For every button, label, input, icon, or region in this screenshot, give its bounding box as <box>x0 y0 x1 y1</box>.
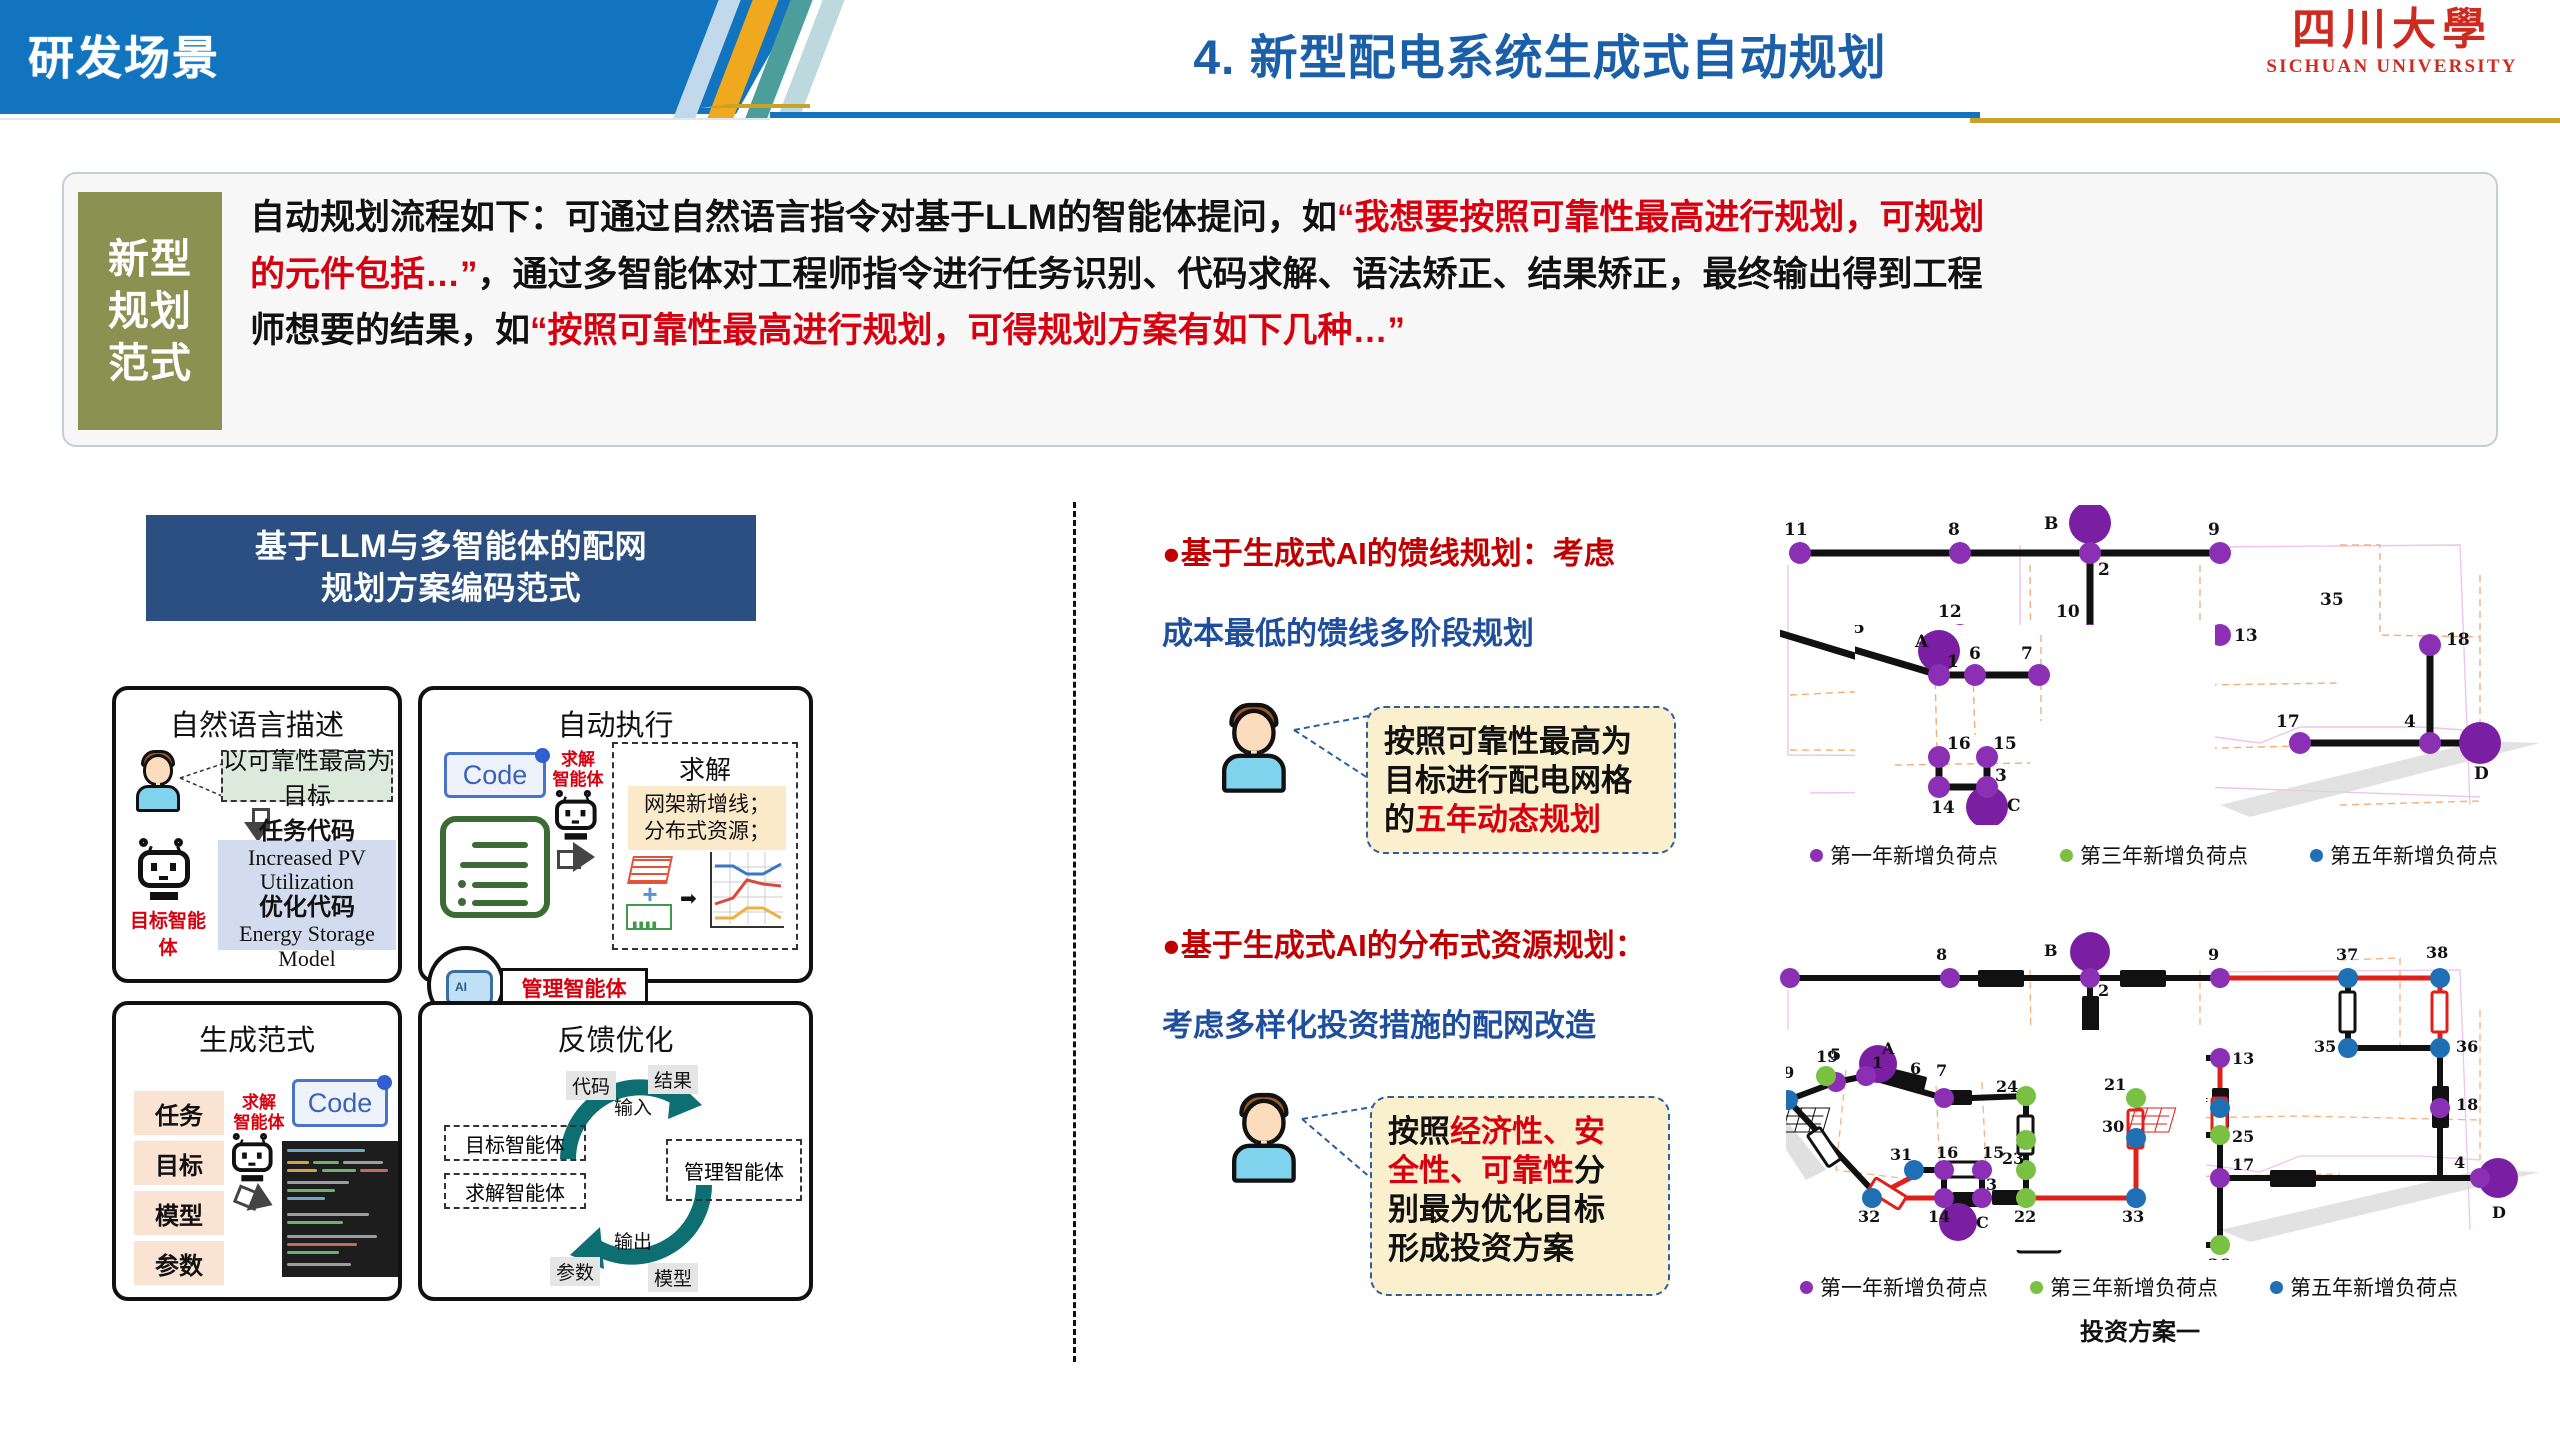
ae-mini-chart <box>710 852 784 928</box>
node-label: 36 <box>2456 1037 2478 1056</box>
callout-body: 自动规划流程如下：可通过自然语言指令对基于LLM的智能体提问，如“我想要按照可靠… <box>250 190 2470 360</box>
section-divider <box>1073 502 1076 1362</box>
node-label: 9 <box>2208 945 2219 964</box>
node-label: 15 <box>1993 734 2017 754</box>
gen-row-task: 任务 <box>134 1091 224 1135</box>
investment-plan-label: 投资方案一 <box>2020 1312 2260 1347</box>
node-label: 9 <box>2208 520 2220 540</box>
nl-task-code-body: Increased PV Utilization <box>218 846 396 895</box>
section2-speech-line-2-red: 全性、可靠性 <box>1388 1153 1574 1188</box>
fb-label-result: 结果 <box>648 1065 698 1094</box>
node-label: 11 <box>1784 520 1808 540</box>
node-label: 23 <box>2002 1149 2024 1168</box>
section1-speech-line-3-red: 五年动态规划 <box>1415 802 1601 837</box>
network-bottom-year-legend-3: 第五年新增负荷点 <box>2270 1272 2458 1302</box>
node-label: 13 <box>2234 626 2258 646</box>
callout-line-2: 的元件包括…”，通过多智能体对工程师指令进行任务识别、代码求解、语法矫正、结果矫… <box>250 247 2470 304</box>
gen-code-label: Code <box>308 1088 373 1119</box>
ae-solve-items: 网架新增线； 分布式资源； <box>628 786 786 850</box>
page-title: 4. 新型配电系统生成式自动规划 <box>880 18 2200 88</box>
callout-line-3-red: “按照可靠性最高进行规划，可得规划方案有如下几种…” <box>530 311 1405 350</box>
callout-line-2-red: 的元件包括…” <box>250 255 478 294</box>
gen-row-param: 参数 <box>134 1241 224 1285</box>
plus-icon: + <box>640 884 660 904</box>
node-label: B <box>2044 514 2058 534</box>
engineer-icon <box>136 748 182 814</box>
fb-box-manager-agent: 管理智能体 <box>666 1139 802 1201</box>
network-top-year-legend-1: 第一年新增负荷点 <box>1810 840 1998 870</box>
quadrant-gen-title: 生成范式 <box>116 1017 398 1059</box>
callout-line-1: 自动规划流程如下：可通过自然语言指令对基于LLM的智能体提问，如“我想要按照可靠… <box>250 190 2470 247</box>
node-label: 5 <box>1855 625 1865 638</box>
gen-solver-agent-label-2: 智能体 <box>228 1113 290 1133</box>
header-thin-rule <box>0 118 770 120</box>
fb-label-code: 代码 <box>566 1071 616 1100</box>
ae-right-arrow-icon <box>557 842 595 872</box>
node-label: C <box>1976 1213 1989 1232</box>
logo-english-name: SICHUAN UNIVERSITY <box>2242 56 2542 78</box>
node-label: 15 <box>1982 1143 2004 1162</box>
speech-connector <box>178 762 224 802</box>
node-label: 8 <box>1936 945 1947 964</box>
section2-subtitle: 考虑多样化投资措施的配网改造 <box>1162 1000 1596 1045</box>
slide-header: 研发场景 4. 新型配电系统生成式自动规划 四川大學 SICHUAN UNIVE… <box>0 0 2560 124</box>
node-label: 14 <box>1928 1207 1950 1226</box>
node-label: D <box>2492 1203 2506 1222</box>
node-label: 35 <box>2314 1037 2336 1056</box>
gen-terminal <box>282 1141 398 1277</box>
section2-speech-line-1-normal: 按照 <box>1388 1114 1450 1149</box>
node-label: 2 <box>2098 560 2110 580</box>
node-label: 8 <box>1948 520 1960 540</box>
ae-solver-robot-icon <box>555 790 595 836</box>
section1-bullet-heading: ●基于生成式AI的馈线规划：考虑 <box>1162 528 1615 573</box>
section2-speech-line-3: 别最为优化目标 <box>1388 1190 1652 1229</box>
ae-list-card <box>440 816 550 918</box>
node-label: 7 <box>2021 644 2033 664</box>
ae-solve-item-2: 分布式资源； <box>644 818 770 845</box>
node-label: 13 <box>2232 1049 2254 1068</box>
network-diagram-bottom-left-cluster: 29 19 5 A 1 6 7 24 23 21 30 31 16 15 3 3… <box>1786 1030 2206 1250</box>
node-label: 16 <box>1936 1143 1958 1162</box>
ae-solve-item-1: 网架新增线； <box>644 791 770 818</box>
nl-code-box: 任务代码 Increased PV Utilization 优化代码 Energ… <box>218 840 396 950</box>
header-tab-label: 研发场景 <box>28 22 220 88</box>
node-label: 12 <box>1938 602 1962 622</box>
university-logo: 四川大學 SICHUAN UNIVERSITY <box>2242 6 2542 78</box>
fb-label-input: 输入 <box>614 1093 652 1120</box>
callout-line-3: 师想要的结果，如“按照可靠性最高进行规划，可得规划方案有如下几种…” <box>250 303 2470 360</box>
quadrant-auto-execution: 自动执行 Code 求解 智能体 求解 网架新增线； 分布式资源； <box>418 686 813 983</box>
ae-code-label: Code <box>463 760 528 791</box>
quadrant-fb-title: 反馈优化 <box>422 1017 809 1059</box>
left-panel-title-line-1: 基于LLM与多智能体的配网 <box>255 526 647 568</box>
section2-speech-line-1-red: 经济性、安 <box>1450 1114 1605 1149</box>
callout-tag-line-2: 规划 <box>108 286 192 336</box>
fb-label-model: 模型 <box>648 1263 698 1292</box>
node-label: 1 <box>1947 652 1959 672</box>
section1-speech-connector <box>1292 712 1372 784</box>
node-label: 4 <box>2454 1153 2465 1172</box>
ae-code-scroll: Code <box>444 752 546 798</box>
ae-solve-panel: 求解 网架新增线； 分布式资源； + ▮▮▮▮ ➡ <box>612 742 798 950</box>
node-label: 10 <box>2056 602 2080 622</box>
target-agent-label: 目标智能体 <box>126 906 210 960</box>
fb-label-param: 参数 <box>550 1257 600 1286</box>
node-label: 35 <box>2320 590 2344 610</box>
section1-speech-line-3: 的五年动态规划 <box>1384 800 1658 839</box>
section2-speech-line-1: 按照经济性、安 <box>1388 1112 1652 1151</box>
nl-goal-bubble: 以可靠性最高为目标 <box>221 750 393 802</box>
header-blue-rule <box>770 112 1980 118</box>
callout-line-1-red: “我想要按照可靠性最高进行规划，可规划 <box>1337 198 1985 237</box>
node-label: 2 <box>2098 981 2109 1000</box>
nl-task-code-title: 任务代码 <box>259 819 355 846</box>
header-stripe-decoration <box>660 0 870 118</box>
node-label: 4 <box>2404 712 2416 732</box>
callout-tag-line-3: 范式 <box>108 338 192 388</box>
node-label: 24 <box>1996 1077 2018 1096</box>
section2-speech-connector <box>1300 1105 1376 1185</box>
section2-bullet-heading: ●基于生成式AI的分布式资源规划： <box>1162 920 1646 965</box>
node-label: 5 <box>1830 1045 1841 1064</box>
node-label: 18 <box>2456 1095 2478 1114</box>
left-panel-title-line-2: 规划方案编码范式 <box>321 568 581 610</box>
network-top-year-legend-3: 第五年新增负荷点 <box>2310 840 2498 870</box>
ae-solver-agent-label-2: 智能体 <box>550 770 606 790</box>
left-panel-title: 基于LLM与多智能体的配网 规划方案编码范式 <box>146 515 756 621</box>
node-label: 6 <box>1910 1059 1921 1078</box>
node-label: 37 <box>2336 945 2358 964</box>
node-label: 21 <box>2104 1075 2126 1094</box>
node-label: 17 <box>2276 712 2300 732</box>
node-label: 26 <box>2208 1255 2230 1260</box>
quadrant-ae-title: 自动执行 <box>422 702 809 744</box>
logo-chinese-name: 四川大學 <box>2242 6 2542 54</box>
node-label: 7 <box>1936 1061 1947 1080</box>
slide-root: 研发场景 4. 新型配电系统生成式自动规划 四川大學 SICHUAN UNIVE… <box>0 0 2560 1440</box>
section1-speech-bubble: 按照可靠性最高为 目标进行配电网格 的五年动态规划 <box>1366 706 1676 854</box>
node-label: 3 <box>1995 766 2007 786</box>
node-label: 14 <box>1931 798 1955 818</box>
gen-row-model: 模型 <box>134 1191 224 1235</box>
callout-line-1-normal: 自动规划流程如下：可通过自然语言指令对基于LLM的智能体提问，如 <box>250 198 1337 237</box>
gen-row-goal: 目标 <box>134 1141 224 1185</box>
quadrant-feedback: 反馈优化 代码 结果 输入 输出 参数 模型 目标智能体 求解智能体 管理智能体 <box>418 1001 813 1301</box>
section1-speech-line-2: 目标进行配电网格 <box>1384 761 1658 800</box>
node-label: D <box>2474 764 2489 784</box>
section1-speech-line-3-normal: 的 <box>1384 802 1415 837</box>
quadrant-natural-language: 自然语言描述 以可靠性最高为目标 任务代码 Increased PV Utili… <box>112 686 402 983</box>
node-label: 25 <box>2232 1127 2254 1146</box>
gen-arrow-icon <box>232 1177 278 1219</box>
network-bottom-year-legend-2: 第三年新增负荷点 <box>2030 1272 2218 1302</box>
quadrant-generation: 生成范式 任务 目标 模型 参数 求解 智能体 Code <box>112 1001 402 1301</box>
fb-box-solver-agent: 求解智能体 <box>444 1173 586 1209</box>
fb-box-target-agent: 目标智能体 <box>444 1125 586 1161</box>
node-label: 30 <box>2102 1117 2124 1136</box>
node-label: 16 <box>1947 734 1971 754</box>
header-gold-rule <box>1970 118 2560 123</box>
section2-speech-line-2-normal: 分 <box>1574 1153 1605 1188</box>
section2-speech-line-2: 全性、可靠性分 <box>1388 1151 1652 1190</box>
ae-solve-title: 求解 <box>614 750 796 787</box>
target-agent-robot-icon <box>138 838 194 902</box>
network-bottom-year-legend-1: 第一年新增负荷点 <box>1800 1272 1988 1302</box>
node-label: A <box>1914 632 1929 652</box>
callout-line-2-normal: ，通过多智能体对工程师指令进行任务识别、代码求解、语法矫正、结果矫正，最终输出得… <box>478 255 1983 294</box>
gen-code-scroll: Code <box>292 1079 388 1127</box>
section1-speech-line-1: 按照可靠性最高为 <box>1384 722 1658 761</box>
node-label: 22 <box>2014 1207 2036 1226</box>
section2-speech-line-4: 形成投资方案 <box>1388 1229 1652 1268</box>
section2-speech-bubble: 按照经济性、安 全性、可靠性分 别最为优化目标 形成投资方案 <box>1370 1096 1670 1296</box>
node-label: 18 <box>2446 630 2470 650</box>
node-label: 6 <box>1969 644 1981 664</box>
fb-label-output: 输出 <box>614 1227 652 1254</box>
callout-tag-line-1: 新型 <box>108 234 192 284</box>
node-label: 17 <box>2232 1155 2254 1174</box>
node-label: 31 <box>1890 1145 1912 1164</box>
network-diagram-top-left-cluster: A 1 6 7 16 15 3 14 C 5 <box>1855 625 2215 825</box>
node-label: 29 <box>1786 1063 1794 1082</box>
node-label: B <box>2044 941 2058 960</box>
node-label: 32 <box>1858 1207 1880 1226</box>
node-label: 33 <box>2122 1207 2144 1226</box>
node-label: C <box>2007 796 2021 816</box>
gen-solver-robot-icon <box>232 1133 271 1177</box>
node-label: 1 <box>1872 1053 1883 1072</box>
network-top-year-legend-2: 第三年新增负荷点 <box>2060 840 2248 870</box>
callout-line-3-normal: 师想要的结果，如 <box>250 311 530 350</box>
arrow-glyph-icon: ➡ <box>680 886 697 911</box>
battery-icon: ▮▮▮▮ <box>626 904 672 930</box>
callout-box: 新型 规划 范式 自动规划流程如下：可通过自然语言指令对基于LLM的智能体提问，… <box>62 172 2498 447</box>
section1-subtitle: 成本最低的馈线多阶段规划 <box>1162 608 1534 653</box>
callout-tag: 新型 规划 范式 <box>78 192 222 430</box>
gen-solver-agent-label-1: 求解 <box>228 1093 290 1113</box>
ae-solver-agent-label-1: 求解 <box>550 750 606 770</box>
quadrant-nl-title: 自然语言描述 <box>116 702 398 744</box>
nl-opt-code-body: Energy Storage Model <box>218 922 396 971</box>
node-label: 38 <box>2426 943 2448 962</box>
node-label: 3 <box>1986 1175 1997 1194</box>
nl-opt-code-title: 优化代码 <box>259 895 355 922</box>
